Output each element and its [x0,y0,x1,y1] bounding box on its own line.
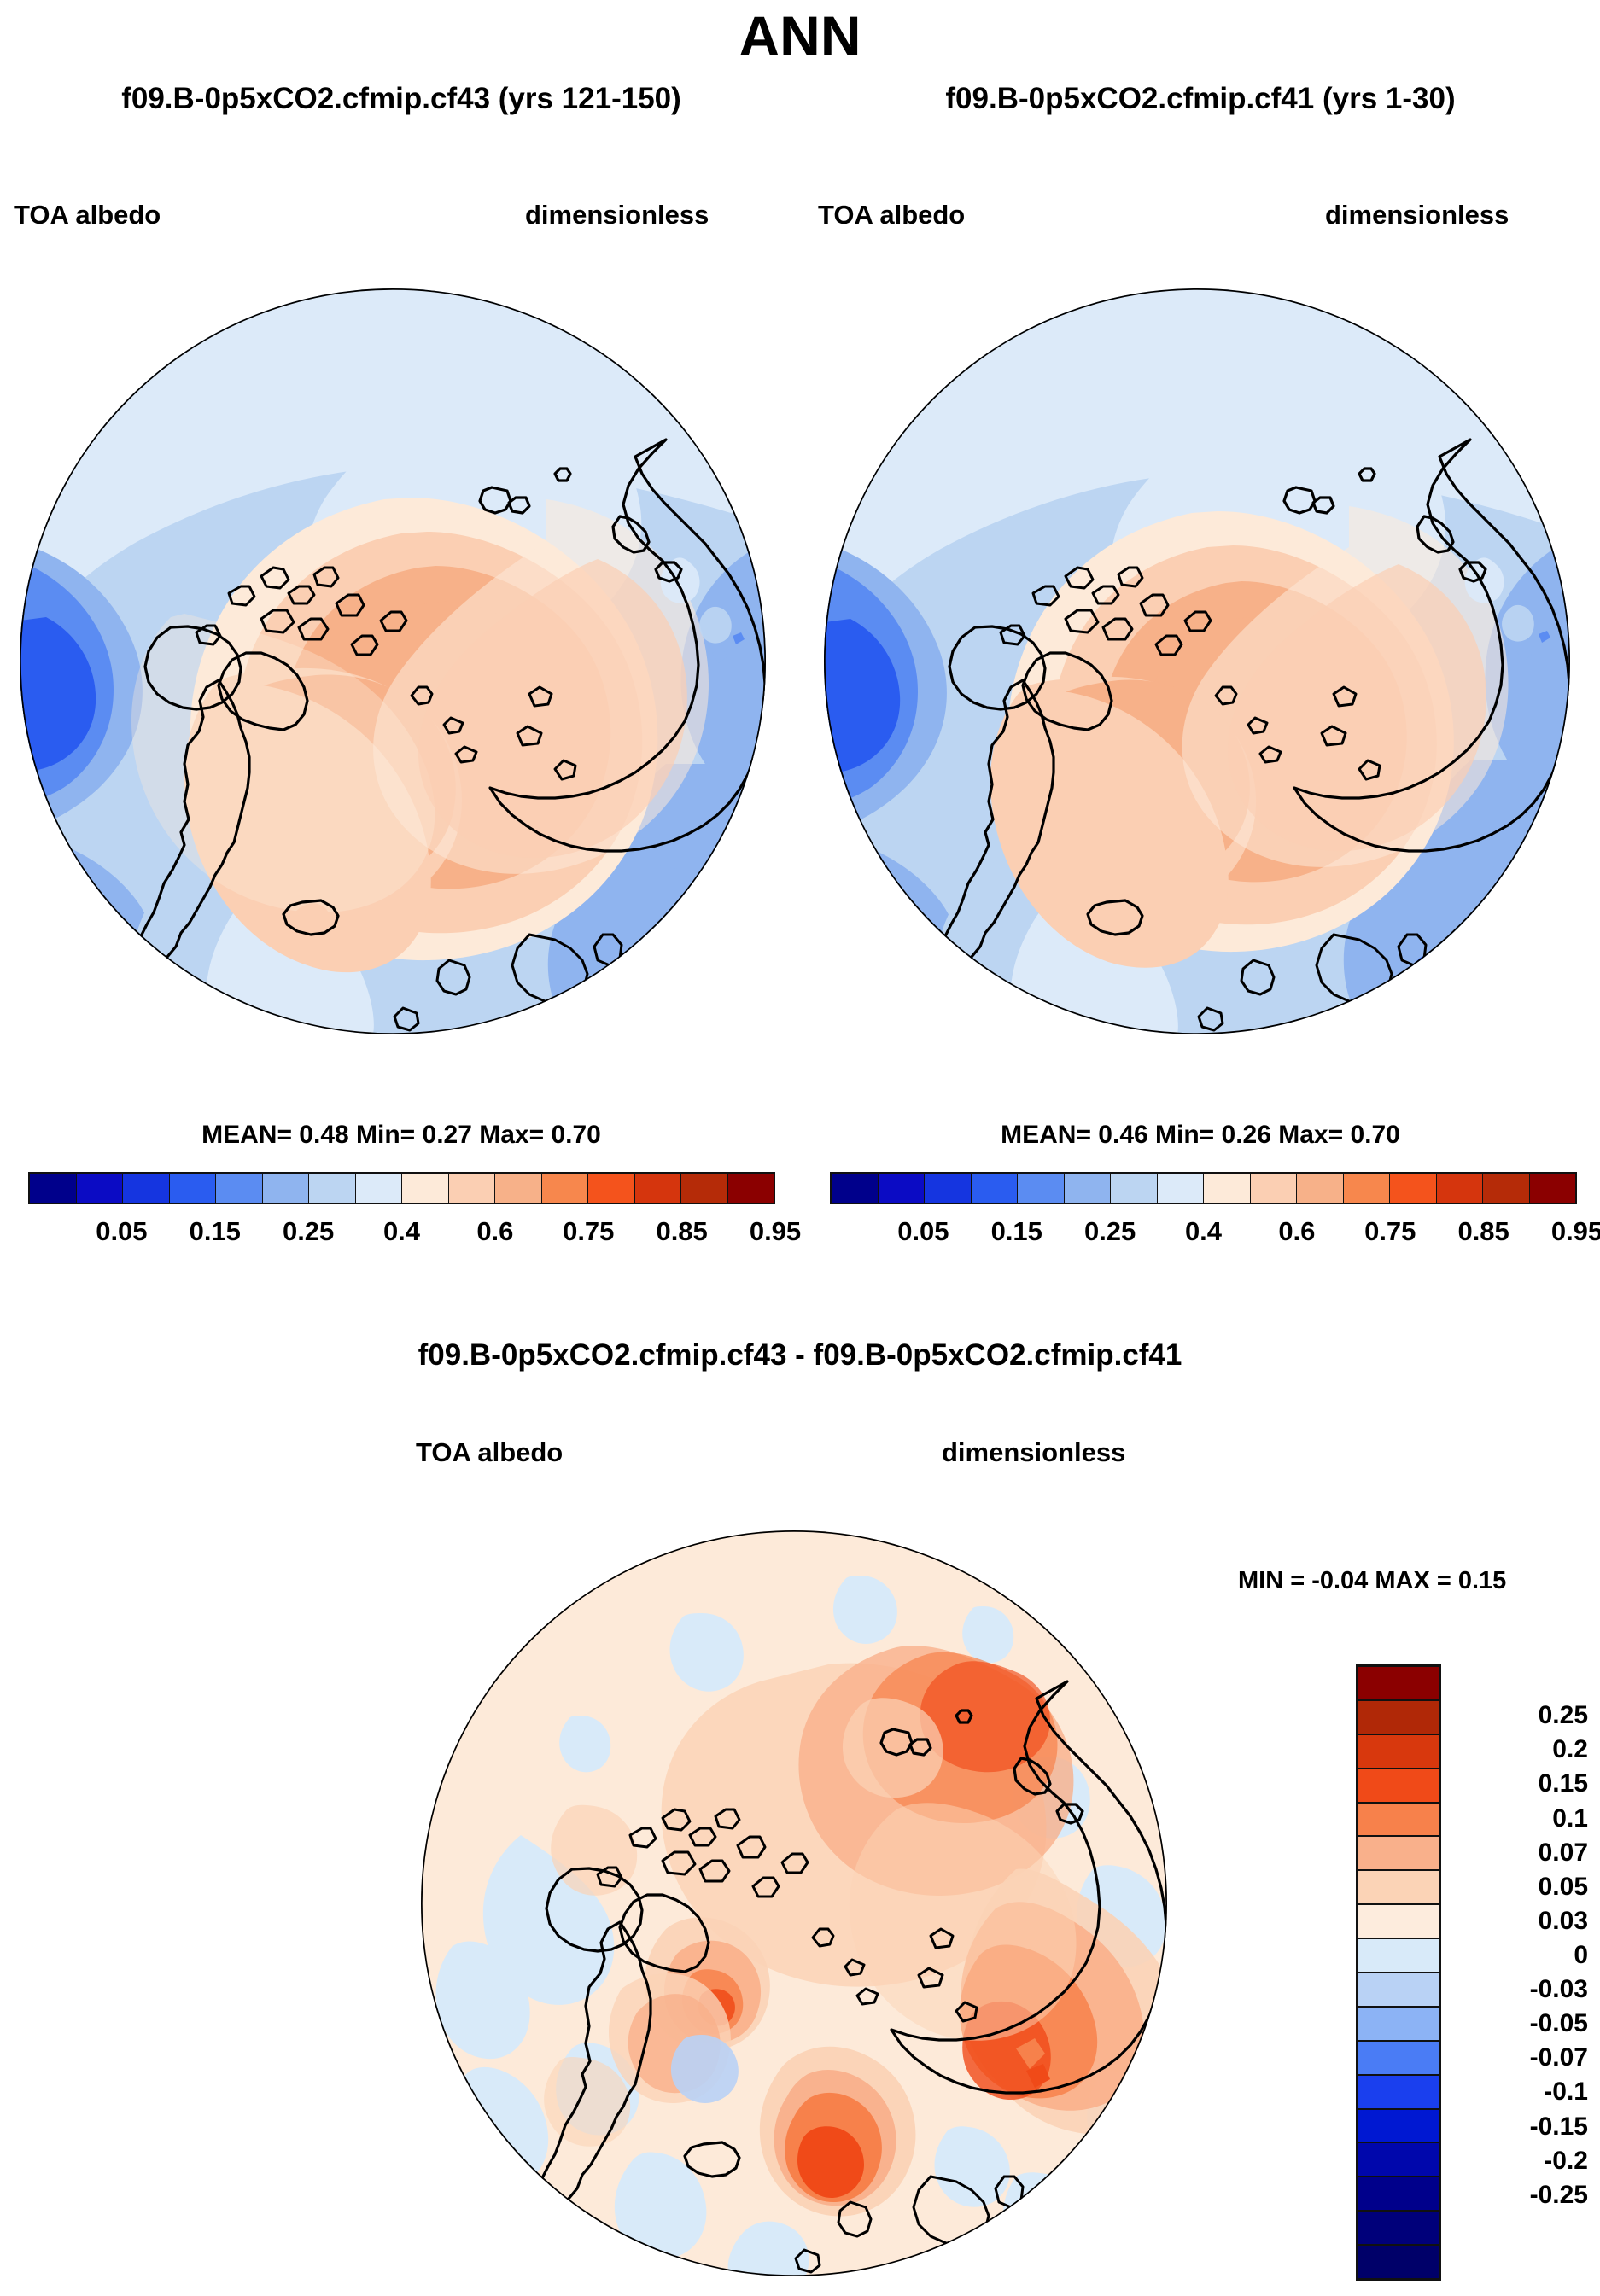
colorbar-cell [1358,1905,1439,1939]
polar-map-right-svg [821,286,1573,1037]
difference-minmax-label: MIN = -0.04 MAX = 0.15 [1238,1567,1506,1595]
polar-map-right [821,286,1573,1037]
colorbar-cell [588,1174,635,1203]
panel-title-right: f09.B-0p5xCO2.cfmip.cf41 (yrs 1-30) [801,82,1600,116]
colorbar-cell [263,1174,310,1203]
colorbar-tick-label: 0.95 [1551,1216,1600,1247]
colorbar-tick-label: 0 [1574,1941,1588,1970]
colorbar-cell [1358,2008,1439,2042]
page-title: ANN [0,3,1600,68]
polar-map-difference-svg [418,1528,1170,2279]
colorbar-cell [1358,2177,1439,2212]
colorbar-tick-label: 0.95 [750,1216,801,1247]
colorbar-cell [635,1174,682,1203]
colorbar-cell [1358,1804,1439,1838]
colorbar-cell [170,1174,217,1203]
colorbar-cell [1358,1973,1439,2008]
colorbar-cell [1358,1837,1439,1871]
colorbar-cell [1358,1735,1439,1769]
colorbar-difference [1356,1664,1441,2281]
colorbar-tick-label: -0.1 [1544,2077,1588,2107]
colorbar-cell [1358,1701,1439,1735]
colorbar-tick-label: 0.85 [1457,1216,1509,1247]
colorbar-tick-label: 0.75 [563,1216,614,1247]
colorbar-cell [402,1174,449,1203]
colorbar-tick-label: 0.25 [1084,1216,1136,1247]
colorbar-tick-label: 0.05 [897,1216,949,1247]
colorbar-tick-label: -0.2 [1544,2147,1588,2176]
colorbar-cell [1358,2246,1439,2278]
colorbar-cell [681,1174,728,1203]
colorbar-cell [30,1174,77,1203]
colorbar-cell [1483,1174,1530,1203]
colorbar-tick-label: 0.1 [1552,1804,1588,1833]
colorbar-left-labels: 0.050.150.250.40.60.750.850.95 [28,1216,775,1254]
colorbar-cell [1344,1174,1391,1203]
colorbar-right [830,1172,1577,1204]
colorbar-tick-label: -0.05 [1530,2009,1588,2038]
colorbar-tick-label: 0.85 [656,1216,707,1247]
colorbar-cell [77,1174,124,1203]
colorbar-cell [309,1174,356,1203]
colorbar-cell [925,1174,972,1203]
colorbar-tick-label: -0.25 [1530,2181,1588,2210]
colorbar-cell [1358,1769,1439,1804]
colorbar-tick-label: 0.05 [1539,1873,1588,1902]
colorbar-tick-label: -0.15 [1530,2112,1588,2142]
colorbar-tick-label: 0.15 [190,1216,241,1247]
panel-title-left: f09.B-0p5xCO2.cfmip.cf43 (yrs 121-150) [0,82,803,116]
colorbar-tick-label: 0.2 [1552,1735,1588,1764]
colorbar-cell [1297,1174,1344,1203]
variable-label-right: TOA albedo [818,200,965,230]
colorbar-cell [1358,2110,1439,2144]
colorbar-tick-label: -0.07 [1530,2043,1588,2072]
colorbar-cell [832,1174,879,1203]
colorbar-tick-label: -0.03 [1530,1975,1588,2004]
colorbar-tick-label: 0.4 [1185,1216,1222,1247]
colorbar-cell [356,1174,403,1203]
colorbar-cell [1358,1939,1439,1973]
units-label-left: dimensionless [525,200,709,230]
colorbar-cell [1158,1174,1205,1203]
colorbar-cell [1065,1174,1112,1203]
polar-map-left [17,286,768,1037]
colorbar-cell [1358,2143,1439,2177]
colorbar-left [28,1172,775,1204]
colorbar-tick-label: 0.75 [1364,1216,1416,1247]
colorbar-cell [1358,2042,1439,2076]
stats-left: MEAN= 0.48 Min= 0.27 Max= 0.70 [0,1121,803,1150]
colorbar-tick-label: 0.25 [1539,1701,1588,1730]
polar-map-left-svg [17,286,768,1037]
colorbar-cell [1111,1174,1158,1203]
colorbar-cell [1530,1174,1576,1203]
colorbar-cell [123,1174,170,1203]
colorbar-tick-label: 0.6 [476,1216,513,1247]
colorbar-tick-label: 0.6 [1278,1216,1315,1247]
difference-units-label: dimensionless [942,1437,1125,1468]
colorbar-cell [542,1174,589,1203]
difference-variable-label: TOA albedo [416,1437,563,1468]
colorbar-cell [1358,1871,1439,1905]
colorbar-cell [879,1174,926,1203]
colorbar-cell [1251,1174,1298,1203]
colorbar-cell [728,1174,774,1203]
colorbar-cell [1018,1174,1065,1203]
colorbar-right-labels: 0.050.150.250.40.60.750.850.95 [830,1216,1577,1254]
colorbar-tick-label: 0.4 [383,1216,420,1247]
colorbar-tick-label: 0.25 [283,1216,334,1247]
colorbar-tick-label: 0.05 [96,1216,147,1247]
difference-panel-title: f09.B-0p5xCO2.cfmip.cf43 - f09.B-0p5xCO2… [0,1338,1600,1372]
stats-right: MEAN= 0.46 Min= 0.26 Max= 0.70 [801,1121,1600,1150]
colorbar-cell [216,1174,263,1203]
colorbar-cell [1358,2212,1439,2246]
colorbar-cell [1204,1174,1251,1203]
colorbar-cell [972,1174,1019,1203]
units-label-right: dimensionless [1325,200,1509,230]
polar-map-difference [418,1528,1170,2279]
colorbar-cell [1390,1174,1437,1203]
colorbar-cell [1358,2076,1439,2110]
colorbar-difference-labels: 0.250.20.150.10.070.050.030-0.03-0.05-0.… [1451,1664,1600,2281]
colorbar-tick-label: 0.15 [1539,1769,1588,1798]
variable-label-left: TOA albedo [14,200,161,230]
colorbar-cell [1437,1174,1484,1203]
colorbar-tick-label: 0.15 [991,1216,1042,1247]
colorbar-cell [1358,1667,1439,1701]
colorbar-cell [495,1174,542,1203]
colorbar-tick-label: 0.07 [1539,1839,1588,1868]
colorbar-cell [449,1174,496,1203]
colorbar-tick-label: 0.03 [1539,1907,1588,1936]
